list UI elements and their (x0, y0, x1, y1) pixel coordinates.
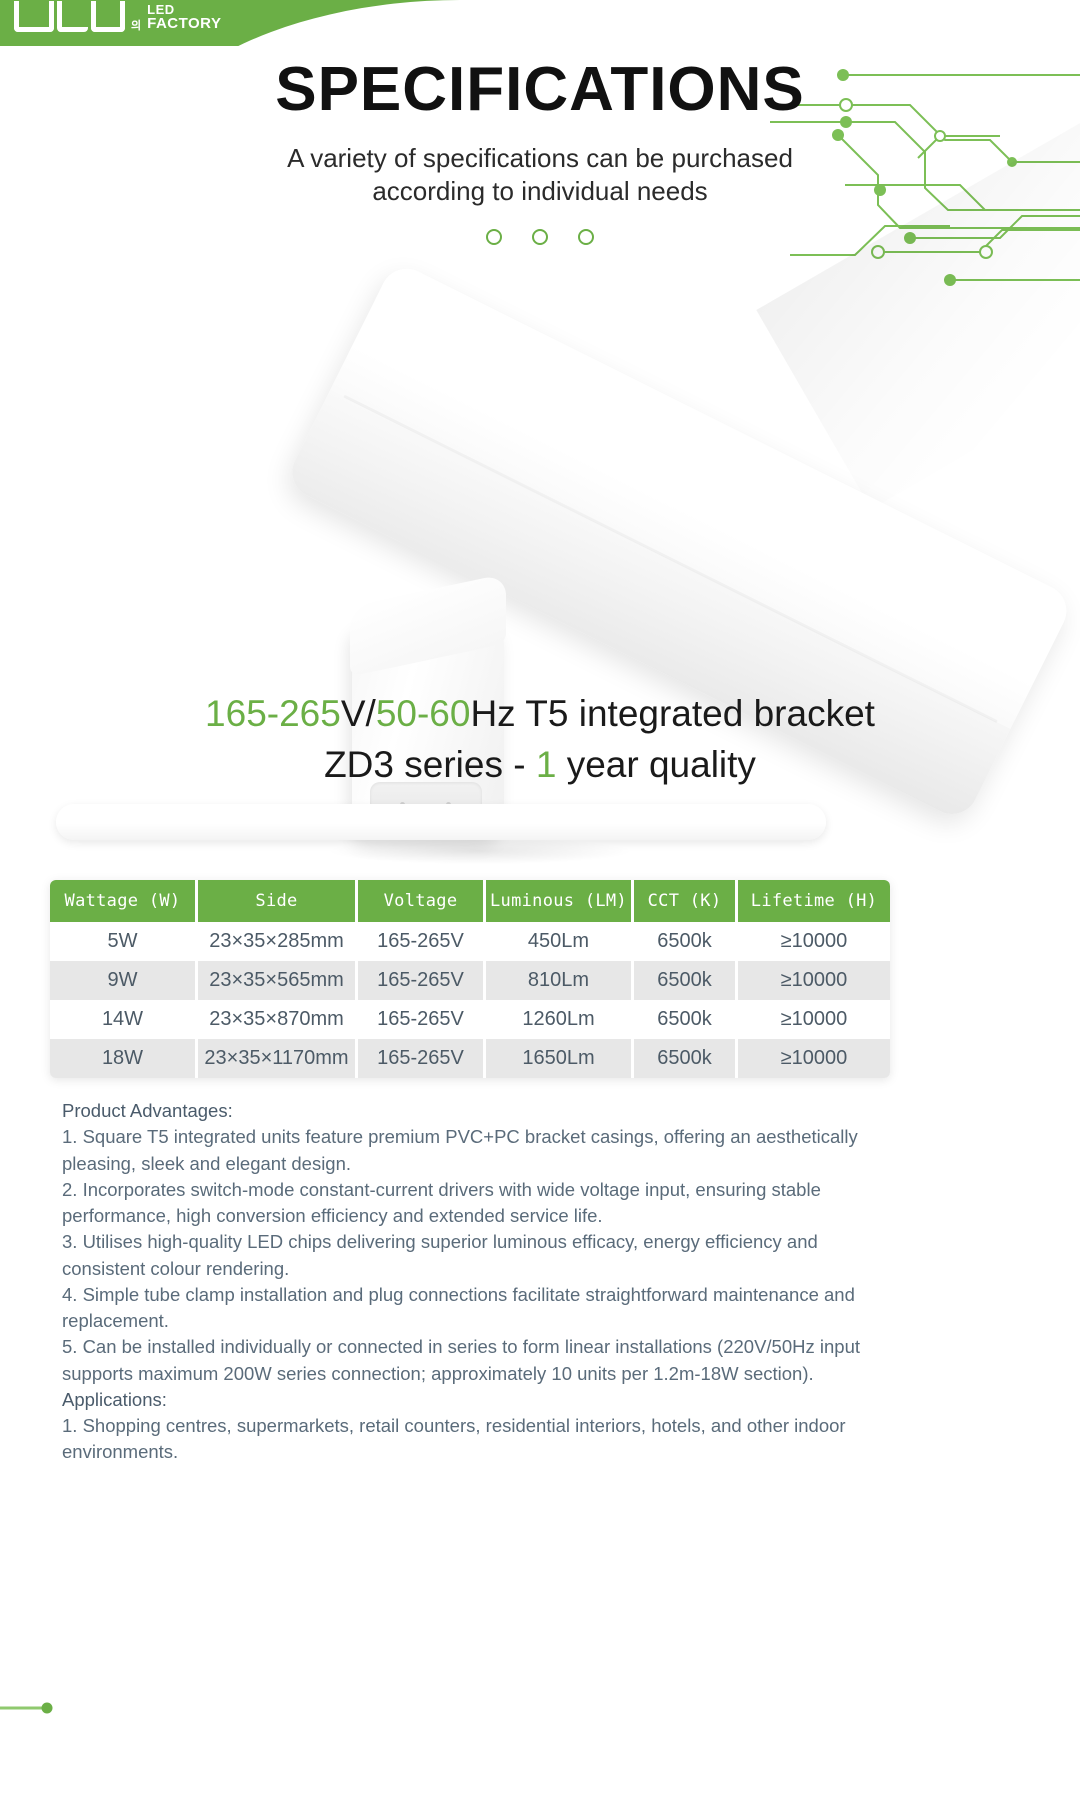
product-description: Product Advantages: 1. Square T5 integra… (62, 1098, 892, 1466)
headline-warranty-text: year quality (556, 744, 756, 785)
headline-line-2: ZD3 series - 1 year quality (0, 739, 1080, 790)
cell-side: 23×35×870mm (198, 1000, 358, 1039)
bottom-trace-icon (0, 1698, 180, 1718)
specifications-table-wrapper: Wattage (W) Side Voltage Luminous (LM) C… (50, 880, 890, 1078)
product-headline: 165-265V/50-60Hz T5 integrated bracket Z… (0, 688, 1080, 790)
logo-wordmark: LED FACTORY (147, 0, 221, 32)
cell-wattage: 18W (50, 1039, 198, 1078)
advantage-item: 5. Can be installed individually or conn… (62, 1334, 892, 1387)
advantages-heading: Product Advantages: (62, 1098, 892, 1124)
cell-voltage: 165-265V (358, 922, 486, 961)
table-row: 14W 23×35×870mm 165-265V 1260Lm 6500k ≥1… (50, 1000, 890, 1039)
column-header-lifetime: Lifetime (H) (738, 880, 890, 922)
bottom-circuit-decoration (0, 1698, 180, 1718)
cell-side: 23×35×1170mm (198, 1039, 358, 1078)
cell-cct: 6500k (634, 1000, 738, 1039)
headline-line-1: 165-265V/50-60Hz T5 integrated bracket (0, 688, 1080, 739)
page-title: SPECIFICATIONS (0, 56, 1080, 124)
headline-voltage-range: 165-265 (205, 693, 341, 734)
advantage-item: 2. Incorporates switch-mode constant-cur… (62, 1177, 892, 1230)
applications-heading: Applications: (62, 1387, 892, 1413)
cell-wattage: 14W (50, 1000, 198, 1039)
column-header-voltage: Voltage (358, 880, 486, 922)
cell-voltage: 165-265V (358, 1000, 486, 1039)
specifications-table: Wattage (W) Side Voltage Luminous (LM) C… (50, 880, 890, 1078)
cell-cct: 6500k (634, 1039, 738, 1078)
table-header-row: Wattage (W) Side Voltage Luminous (LM) C… (50, 880, 890, 922)
cell-lifetime: ≥10000 (738, 1000, 890, 1039)
cell-voltage: 165-265V (358, 961, 486, 1000)
product-strip-image (56, 800, 826, 846)
headline-product-text: Hz T5 integrated bracket (470, 693, 874, 734)
cell-lifetime: ≥10000 (738, 1039, 890, 1078)
table-row: 5W 23×35×285mm 165-265V 450Lm 6500k ≥100… (50, 922, 890, 961)
headline-warranty-years: 1 (536, 744, 557, 785)
headline-volt-unit: V/ (341, 693, 376, 734)
decorative-dots (0, 229, 1080, 245)
product-strip-body (56, 804, 826, 840)
cell-luminous: 1260Lm (486, 1000, 634, 1039)
column-header-luminous: Luminous (LM) (486, 880, 634, 922)
product-end-cap-top (350, 573, 506, 676)
cell-wattage: 5W (50, 922, 198, 961)
table-row: 18W 23×35×1170mm 165-265V 1650Lm 6500k ≥… (50, 1039, 890, 1078)
cell-luminous: 450Lm (486, 922, 634, 961)
headline-series-text: ZD3 series - (324, 744, 536, 785)
advantage-item: 4. Simple tube clamp installation and pl… (62, 1282, 892, 1335)
logo-led-text: LED (147, 3, 221, 17)
cell-luminous: 1650Lm (486, 1039, 634, 1078)
cell-lifetime: ≥10000 (738, 961, 890, 1000)
cell-cct: 6500k (634, 922, 738, 961)
cell-lifetime: ≥10000 (738, 922, 890, 961)
page-subtitle: A variety of specifications can be purch… (260, 142, 820, 207)
logo-mark-icon (14, 0, 125, 32)
page-header: SPECIFICATIONS A variety of specificatio… (0, 56, 1080, 245)
column-header-wattage: Wattage (W) (50, 880, 198, 922)
brand-logo: 의 LED FACTORY (14, 0, 221, 32)
headline-frequency-range: 50-60 (376, 693, 471, 734)
cell-side: 23×35×565mm (198, 961, 358, 1000)
column-header-side: Side (198, 880, 358, 922)
cell-cct: 6500k (634, 961, 738, 1000)
circle-ring-icon (578, 229, 594, 245)
table-row: 9W 23×35×565mm 165-265V 810Lm 6500k ≥100… (50, 961, 890, 1000)
logo-factory-text: FACTORY (147, 16, 221, 32)
advantage-item: 3. Utilises high-quality LED chips deliv… (62, 1229, 892, 1282)
circle-ring-icon (532, 229, 548, 245)
circle-ring-icon (486, 229, 502, 245)
application-item: 1. Shopping centres, supermarkets, retai… (62, 1413, 892, 1466)
cell-luminous: 810Lm (486, 961, 634, 1000)
cell-wattage: 9W (50, 961, 198, 1000)
cell-side: 23×35×285mm (198, 922, 358, 961)
advantage-item: 1. Square T5 integrated units feature pr… (62, 1124, 892, 1177)
cell-voltage: 165-265V (358, 1039, 486, 1078)
hero-product-image (0, 250, 1080, 680)
logo-korean-mark: 의 (131, 0, 141, 32)
column-header-cct: CCT (K) (634, 880, 738, 922)
logo-korean-text: 의 (131, 21, 141, 32)
